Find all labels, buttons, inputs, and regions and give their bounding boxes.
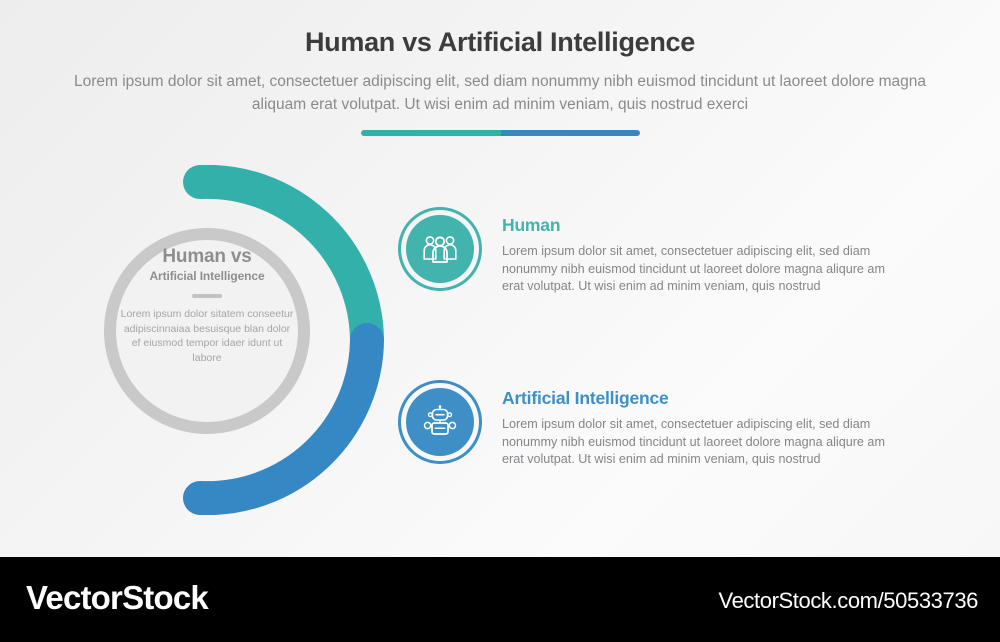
ai-badge[interactable] <box>398 380 482 464</box>
divider-teal-half <box>361 130 501 136</box>
vectorstock-logo: VectorStock <box>26 579 208 617</box>
robot-icon <box>421 405 459 439</box>
page-title: Human vs Artificial Intelligence <box>0 27 1000 58</box>
ai-body: Lorem ipsum dolor sit amet, consectetuer… <box>502 416 904 469</box>
center-body: Lorem ipsum dolor sitatem conseetur adip… <box>118 307 296 365</box>
center-title: Human vs <box>118 245 296 268</box>
human-body: Lorem ipsum dolor sit amet, consectetuer… <box>502 243 904 296</box>
center-circle-content: Human vs Artificial Intelligence Lorem i… <box>118 245 296 365</box>
human-heading: Human <box>502 215 904 236</box>
list-item-artificial-intelligence[interactable]: Artificial Intelligence Lorem ipsum dolo… <box>398 380 918 480</box>
header-divider <box>361 130 640 136</box>
watermark-footer: VectorStock VectorStock.com/50533736 <box>0 557 1000 642</box>
ai-text-block: Artificial Intelligence Lorem ipsum dolo… <box>502 388 904 469</box>
ai-heading: Artificial Intelligence <box>502 388 904 409</box>
divider-blue-half <box>501 130 641 136</box>
vectorstock-credit: VectorStock.com/50533736 <box>719 588 978 614</box>
human-text-block: Human Lorem ipsum dolor sit amet, consec… <box>502 215 904 296</box>
circular-diagram: Human vs Artificial Intelligence Lorem i… <box>90 165 390 515</box>
list-item-human[interactable]: Human Lorem ipsum dolor sit amet, consec… <box>398 207 918 307</box>
infographic-canvas: Human vs Artificial Intelligence Lorem i… <box>0 0 1000 642</box>
page-subtitle: Lorem ipsum dolor sit amet, consectetuer… <box>70 70 930 116</box>
artboard: Human vs Artificial Intelligence Lorem i… <box>0 0 1000 557</box>
people-group-icon <box>422 234 458 264</box>
center-subtitle: Artificial Intelligence <box>118 268 296 285</box>
human-badge[interactable] <box>398 207 482 291</box>
center-dash-divider <box>192 294 222 298</box>
